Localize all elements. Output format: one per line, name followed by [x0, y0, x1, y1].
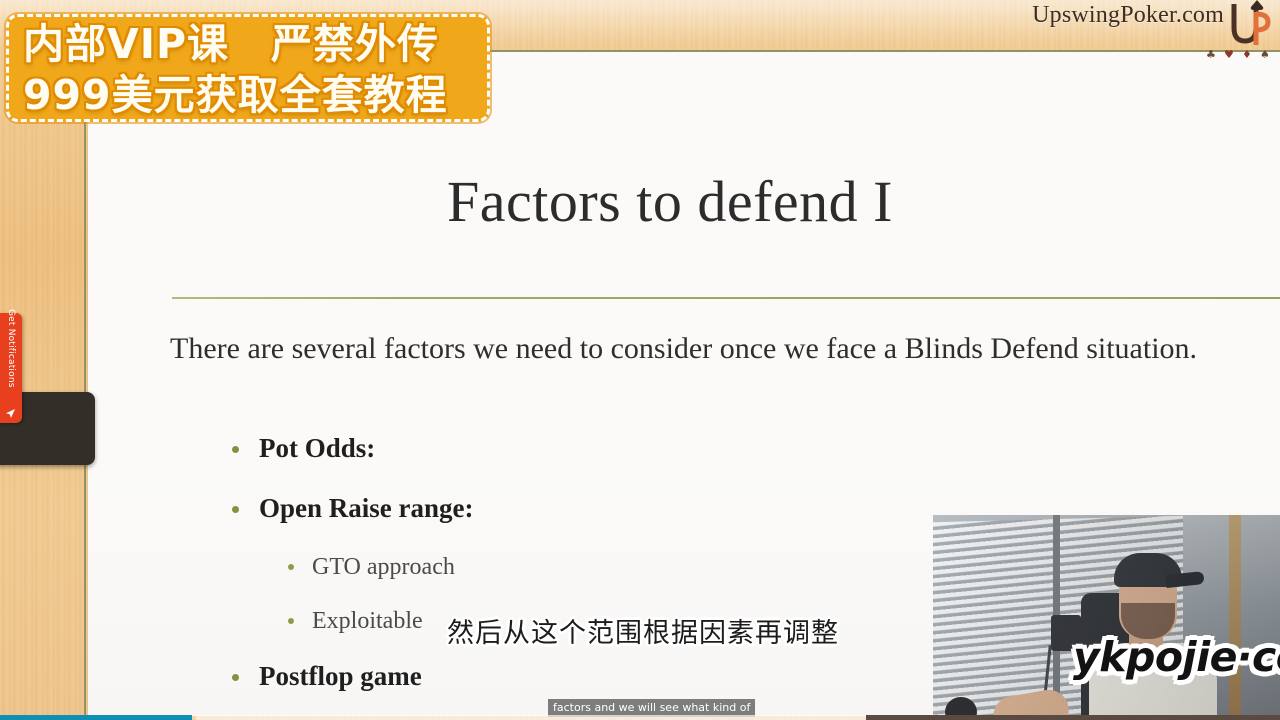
- svg-text:♠: ♠: [1260, 48, 1270, 59]
- video-progress-track-remaining: [866, 715, 1280, 720]
- get-notifications-label: Get Notifications: [6, 309, 16, 405]
- bullet-label: Open Raise range:: [259, 492, 473, 525]
- send-notification-icon: [5, 406, 16, 417]
- svg-text:♥: ♥: [1224, 48, 1234, 59]
- slide-left-rule: [84, 46, 86, 720]
- slide-body-text: There are several factors we need to con…: [170, 326, 1280, 371]
- vip-promo-banner: 内部VIP课 严禁外传 999美元获取全套教程: [6, 14, 490, 122]
- video-player-screen: UpswingPoker.com ♣ ♥ ♦ ♠ Factors to defe…: [0, 0, 1280, 720]
- svg-text:♦: ♦: [1242, 48, 1252, 59]
- card-suit-decoration: ♣ ♥ ♦ ♠: [1204, 46, 1274, 58]
- bullet-label: Exploitable: [312, 606, 423, 636]
- vip-promo-line-1: 内部VIP课 严禁外传: [23, 19, 477, 70]
- video-progress-played: [0, 715, 192, 720]
- bullet-dot-icon: [232, 506, 239, 513]
- bullet-label: Pot Odds:: [259, 432, 375, 465]
- svg-text:♣: ♣: [1206, 48, 1216, 59]
- presenter-webcam-inset: ykpojie·com: [933, 515, 1280, 720]
- bullet-dot-icon: [288, 618, 294, 624]
- title-divider: [172, 297, 1280, 299]
- bullet-label: Postflop game: [259, 660, 422, 693]
- slide-title: Factors to defend I: [170, 168, 1170, 235]
- up-spade-logo-icon: [1226, 0, 1272, 50]
- webcam-watermark: ykpojie·com: [1073, 633, 1280, 681]
- video-progress-track[interactable]: [0, 715, 1280, 720]
- get-notifications-tab[interactable]: Get Notifications: [0, 313, 22, 423]
- brand-name: UpswingPoker.com: [1032, 2, 1224, 29]
- bullet-dot-icon: [232, 446, 239, 453]
- video-progress-buffered: [196, 715, 866, 720]
- vip-promo-line-2: 999美元获取全套教程: [23, 70, 477, 121]
- webcam-light-overlay: [933, 515, 1280, 720]
- bullet-dot-icon: [288, 564, 294, 570]
- bullet-dot-icon: [232, 674, 239, 681]
- chinese-subtitle: 然后从这个范围根据因素再调整: [447, 611, 839, 650]
- bullet-label: GTO approach: [312, 552, 455, 582]
- bullet-item-pot-odds: Pot Odds:: [232, 432, 1132, 465]
